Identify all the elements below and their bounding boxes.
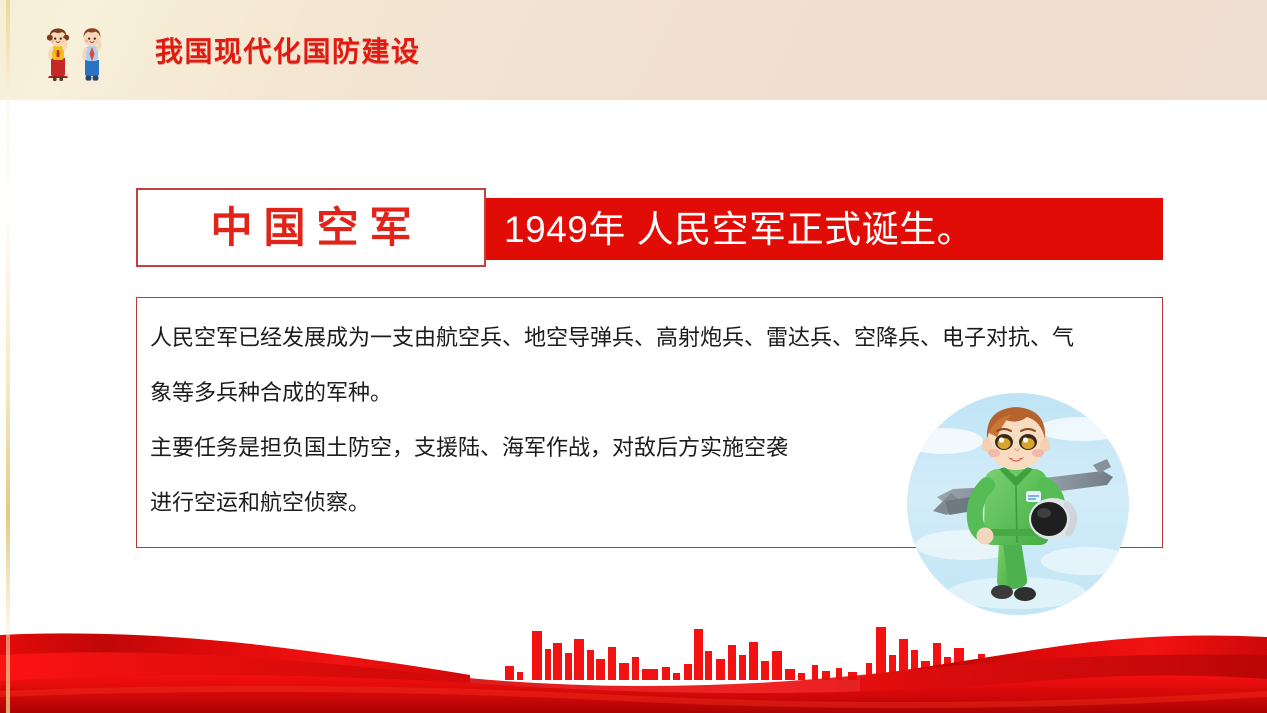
hero-banner-label: 1949年 人民空军正式诞生。	[504, 211, 974, 248]
hero-red-banner: 1949年 人民空军正式诞生。	[484, 198, 1163, 260]
hero-title-block: 1949年 人民空军正式诞生。 中国空军	[136, 188, 1163, 267]
two-children-saluting-icon	[38, 22, 118, 84]
hero-white-title-box: 中国空军	[136, 188, 486, 267]
slide-canvas: 我国现代化国防建设 1949年 人民空军正式诞生。 中国空军 人民空军已经发展成…	[0, 0, 1267, 713]
slide-header-bar: 我国现代化国防建设	[0, 0, 1267, 100]
page-title: 我国现代化国防建设	[155, 0, 421, 100]
body-line-1: 人民空军已经发展成为一支由航空兵、地空导弹兵、高射炮兵、雷达兵、空降兵、电子对抗…	[150, 310, 1160, 365]
header-inner: 我国现代化国防建设	[0, 0, 1267, 100]
cartoon-pilot-with-jet-icon	[907, 393, 1129, 615]
hero-box-label: 中国空军	[199, 207, 422, 249]
left-edge-accent-stripe	[6, 0, 10, 713]
